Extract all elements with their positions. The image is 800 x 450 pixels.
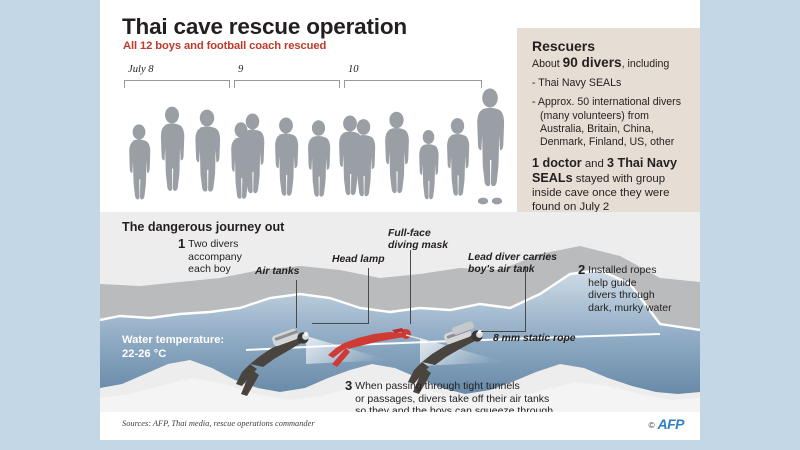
step-1-line3: each boy: [188, 263, 231, 275]
step-2-line2: help guide: [588, 277, 636, 289]
step-1-number: 1: [178, 236, 185, 251]
date-label-july-9: 9: [238, 64, 243, 75]
rescuers-panel: Rescuers About 90 divers, including - Th…: [517, 28, 700, 212]
step-1: 1 Two divers accompany each boy: [178, 238, 242, 276]
step-3-line3: so they and the boys can squeeze through: [355, 405, 553, 412]
step-2-line3: divers through: [588, 289, 655, 301]
rescuers-heading: Rescuers: [532, 38, 692, 54]
callout-lead-diver-line2: boy's air tank: [468, 264, 557, 276]
date-label-july-8: July 8: [128, 64, 154, 75]
infographic-page: Thai cave rescue operation All 12 boys a…: [0, 0, 800, 450]
callout-head-lamp: Head lamp: [332, 254, 385, 266]
step-2-line4: dark, murky water: [588, 302, 671, 314]
rescuers-lead-pre: About: [532, 58, 563, 70]
rescue-timeline: July 8 9 10: [122, 60, 512, 205]
step-3-line2: or passages, divers take off their air t…: [355, 393, 549, 405]
footer: Sources: AFP, Thai media, rescue operati…: [100, 412, 700, 440]
silhouette-boy: [382, 110, 411, 205]
step-1-line2: accompany: [188, 251, 242, 263]
rescuers-divers-count: 90 divers: [563, 55, 622, 70]
step-3-line1: When passing through tight tunnels: [355, 380, 520, 392]
rescuers-bullet-2: - Approx. 50 international divers (many …: [532, 96, 692, 149]
leader-line-lead-diver-elbow: [481, 331, 526, 332]
afp-logo: AFP: [658, 416, 685, 432]
step-2-text: Installed ropes help guide divers throug…: [588, 264, 671, 314]
leader-line-head-lamp: [368, 268, 369, 324]
silhouette-boy: [192, 108, 222, 205]
page-title: Thai cave rescue operation: [122, 14, 407, 40]
bracket-july-9: [234, 80, 340, 88]
step-1-line1: Two divers: [188, 238, 238, 250]
journey-panel: The dangerous journey out: [100, 212, 700, 412]
leader-line-air-tanks: [296, 280, 297, 328]
silhouette-boy: [126, 123, 152, 205]
page-subtitle: All 12 boys and football coach rescued: [123, 40, 326, 52]
rescuers-footnote: 1 doctor and 3 Thai Navy SEALs stayed wi…: [532, 156, 692, 214]
silhouette-boy: [239, 112, 266, 205]
infographic-card: Thai cave rescue operation All 12 boys a…: [100, 0, 700, 440]
step-3-number: 3: [345, 378, 352, 393]
step-2-line1: Installed ropes: [588, 264, 656, 276]
water-temperature-line2: 22-26 °C: [122, 348, 224, 362]
step-1-text: Two divers accompany each boy: [188, 238, 242, 276]
copyright-symbol: ©: [648, 420, 654, 430]
silhouette-boy: [158, 105, 186, 205]
leader-line-head-lamp-elbow: [312, 323, 369, 324]
water-temperature-label: Water temperature: 22-26 °C: [122, 334, 224, 361]
silhouette-boy: [350, 118, 377, 205]
callout-full-face-mask: Full-face diving mask: [388, 228, 448, 253]
callout-lead-diver: Lead diver carries boy's air tank: [468, 252, 557, 277]
journey-title: The dangerous journey out: [122, 220, 284, 234]
silhouette-boy: [417, 129, 440, 205]
step-3: 3 When passing through tight tunnels or …: [345, 380, 553, 412]
rescuers-lead-post: , including: [622, 58, 670, 70]
water-temperature-line1: Water temperature:: [122, 334, 224, 348]
silhouette-boy: [305, 119, 332, 205]
callout-air-tanks: Air tanks: [255, 266, 299, 278]
step-2-number: 2: [578, 262, 585, 277]
callout-full-face-mask-line2: diving mask: [388, 240, 448, 252]
rescuers-lead: About 90 divers, including: [532, 56, 692, 71]
silhouette-boy: [444, 117, 471, 205]
afp-credit: © AFP: [648, 416, 684, 432]
sources-text: Sources: AFP, Thai media, rescue operati…: [122, 419, 315, 428]
leader-line-full-face-mask: [410, 250, 411, 324]
callout-full-face-mask-line1: Full-face: [388, 228, 448, 240]
bracket-july-8: [124, 80, 230, 88]
rescuers-bullet-1: - Thai Navy SEALs: [532, 77, 692, 90]
callout-static-rope: 8 mm static rope: [493, 333, 576, 345]
rescuers-footnote-mid: and: [582, 158, 607, 170]
date-label-july-10: 10: [348, 64, 359, 75]
silhouette-coach: [474, 87, 506, 205]
bracket-july-10: [344, 80, 482, 88]
step-3-text: When passing through tight tunnels or pa…: [355, 380, 553, 412]
step-2: 2 Installed ropes help guide divers thro…: [578, 264, 672, 314]
callout-lead-diver-line1: Lead diver carries: [468, 252, 557, 264]
rescuers-doctor-count: 1 doctor: [532, 156, 582, 170]
silhouette-boy: [272, 116, 300, 205]
